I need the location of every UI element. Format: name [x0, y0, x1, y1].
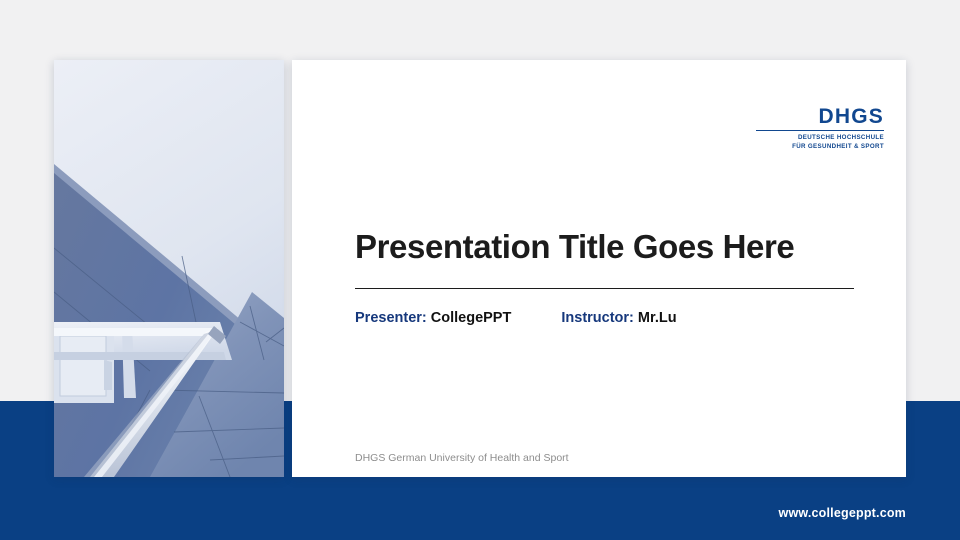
logo-wordmark: DHGS	[756, 106, 884, 127]
website-url: www.collegeppt.com	[779, 506, 906, 520]
presentation-slide: www.collegeppt.com	[0, 0, 960, 540]
credits-line: Presenter: CollegePPT Instructor: Mr.Lu	[355, 310, 677, 326]
dhgs-logo: DHGS DEUTSCHE HOCHSCHULE FÜR GESUNDHEIT …	[756, 106, 884, 152]
presenter-value: CollegePPT	[431, 310, 512, 326]
slide-title: Presentation Title Goes Here	[355, 228, 794, 266]
presenter-group: Presenter: CollegePPT	[355, 310, 511, 326]
architecture-photo-illustration	[54, 60, 284, 477]
logo-subtitle-line-2: FÜR GESUNDHEIT & SPORT	[756, 142, 884, 151]
instructor-group: Instructor: Mr.Lu	[561, 310, 676, 326]
logo-divider	[756, 130, 884, 131]
slide-content-card: DHGS DEUTSCHE HOCHSCHULE FÜR GESUNDHEIT …	[292, 60, 906, 477]
instructor-value: Mr.Lu	[638, 310, 677, 326]
presenter-label: Presenter:	[355, 310, 427, 326]
institution-footer: DHGS German University of Health and Spo…	[355, 452, 569, 464]
title-divider	[355, 288, 854, 289]
logo-subtitle-line-1: DEUTSCHE HOCHSCHULE	[756, 133, 884, 142]
instructor-label: Instructor:	[561, 310, 634, 326]
cover-photo	[54, 60, 284, 477]
